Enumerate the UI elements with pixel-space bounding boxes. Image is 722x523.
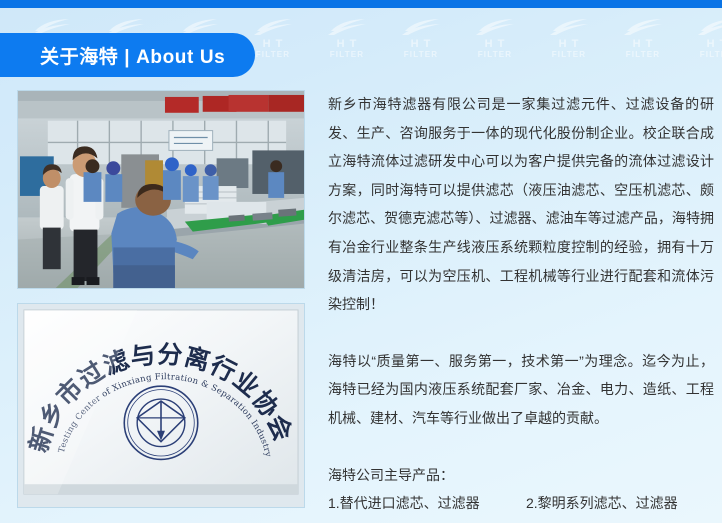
watermark-logo-icon: H T FILTER xyxy=(540,16,598,68)
factory-workshop-illustration xyxy=(18,91,304,288)
product-item: .3.空压机三滤 xyxy=(328,517,526,523)
ht-filter-logo-icon xyxy=(251,16,295,38)
main-products-section: 海特公司主导产品： 1.替代进口滤芯、过滤器 2.黎明系列滤芯、过滤器 .3.空… xyxy=(328,461,714,523)
company-philosophy-paragraph: 海特以“质量第一、服务第一，技术第一”为理念。迄今为止，海特已经为国内液压系统配… xyxy=(328,347,714,433)
product-row: .3.空压机三滤 4.滤油车系列 xyxy=(328,517,714,523)
ht-filter-logo-icon xyxy=(399,16,443,38)
ht-filter-logo-icon xyxy=(695,16,722,38)
watermark-text-ht: H T xyxy=(392,39,450,51)
watermark-text-filter: FILTER xyxy=(614,51,672,59)
ht-filter-logo-icon xyxy=(325,16,369,38)
main-products-heading: 海特公司主导产品： xyxy=(328,461,714,489)
watermark-text-filter: FILTER xyxy=(466,51,524,59)
ht-filter-logo-icon xyxy=(547,16,591,38)
section-header-about-us[interactable]: 关于海特 | About Us xyxy=(0,33,255,77)
watermark-logo-icon: H T FILTER xyxy=(688,16,722,68)
ht-filter-logo-icon xyxy=(473,16,517,38)
page-title: 关于海特 | About Us xyxy=(40,42,225,69)
about-us-page: H T FILTER H T FILTER H T FILTER H T xyxy=(0,0,722,523)
watermark-logo-icon: H T FILTER xyxy=(392,16,450,68)
testing-center-plaque-photo[interactable]: 新乡市过滤与分离行业协会检测中心 Testing Center of Xinxi… xyxy=(17,303,305,508)
top-accent-rule xyxy=(0,0,722,8)
ht-filter-logo-icon xyxy=(621,16,665,38)
watermark-text-filter: FILTER xyxy=(540,51,598,59)
product-row: 1.替代进口滤芯、过滤器 2.黎明系列滤芯、过滤器 xyxy=(328,489,714,517)
watermark-text-ht: H T xyxy=(466,39,524,51)
testing-center-plaque-illustration: 新乡市过滤与分离行业协会检测中心 Testing Center of Xinxi… xyxy=(18,304,304,507)
watermark-text-ht: H T xyxy=(688,39,722,51)
product-item: 1.替代进口滤芯、过滤器 xyxy=(328,489,526,517)
standing-worker-left xyxy=(40,164,64,269)
watermark-text-ht: H T xyxy=(318,39,376,51)
watermark-text-filter: FILTER xyxy=(318,51,376,59)
about-us-content: 新乡市海特滤器有限公司是一家集过滤元件、过滤设备的研发、生产、咨询服务于一体的现… xyxy=(328,90,714,523)
watermark-logo-icon: H T FILTER xyxy=(318,16,376,68)
product-item: 2.黎明系列滤芯、过滤器 xyxy=(526,489,714,517)
watermark-logo-icon: H T FILTER xyxy=(614,16,672,68)
product-item: 4.滤油车系列 xyxy=(526,517,714,523)
watermark-text-ht: H T xyxy=(614,39,672,51)
watermark-text-ht: H T xyxy=(540,39,598,51)
watermark-text-filter: FILTER xyxy=(688,51,722,59)
watermark-text-filter: FILTER xyxy=(392,51,450,59)
company-intro-paragraph: 新乡市海特滤器有限公司是一家集过滤元件、过滤设备的研发、生产、咨询服务于一体的现… xyxy=(328,90,714,319)
watermark-logo-icon: H T FILTER xyxy=(466,16,524,68)
factory-workshop-photo[interactable] xyxy=(17,90,305,289)
